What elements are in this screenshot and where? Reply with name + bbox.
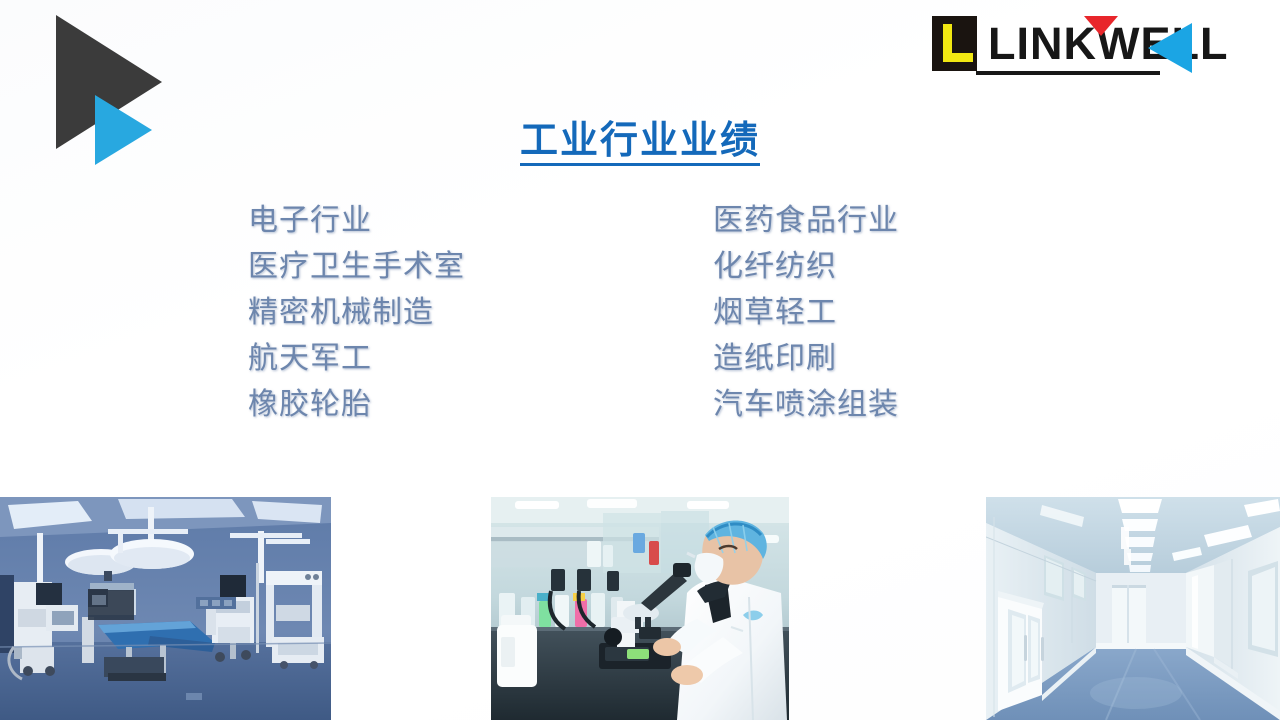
logo-square-icon (932, 16, 977, 71)
list-item: 汽车喷涂组装 (713, 382, 899, 428)
logo-letter-l-foot-icon (943, 53, 973, 62)
logo-red-triangle-icon (1084, 16, 1118, 36)
list-item: 烟草轻工 (713, 290, 899, 336)
slide-title: 工业行业业绩 (0, 118, 1280, 166)
company-logo: LINKWELL (932, 14, 1232, 76)
industry-list: 电子行业 医疗卫生手术室 精密机械制造 航天军工 橡胶轮胎 医药食品行业 化纤纺… (0, 198, 1280, 438)
list-item: 电子行业 (248, 198, 465, 244)
cleanroom-corridor-photo (986, 497, 1280, 720)
list-item: 航天军工 (248, 336, 465, 382)
slide-title-text: 工业行业业绩 (520, 118, 760, 166)
logo-underline (976, 71, 1160, 75)
list-item: 医药食品行业 (713, 198, 899, 244)
list-item: 医疗卫生手术室 (248, 244, 465, 290)
list-item: 化纤纺织 (713, 244, 899, 290)
list-item: 橡胶轮胎 (248, 382, 465, 428)
laboratory-microscope-photo (491, 497, 789, 720)
industry-list-left-column: 电子行业 医疗卫生手术室 精密机械制造 航天军工 橡胶轮胎 (248, 198, 465, 428)
logo-blue-triangle-icon (1148, 23, 1192, 73)
operating-room-photo (0, 497, 331, 720)
presentation-slide: LINKWELL 工业行业业绩 电子行业 医疗卫生手术室 精密机械制造 航天军工… (0, 0, 1280, 720)
industry-list-right-column: 医药食品行业 化纤纺织 烟草轻工 造纸印刷 汽车喷涂组装 (713, 198, 899, 428)
list-item: 精密机械制造 (248, 290, 465, 336)
list-item: 造纸印刷 (713, 336, 899, 382)
